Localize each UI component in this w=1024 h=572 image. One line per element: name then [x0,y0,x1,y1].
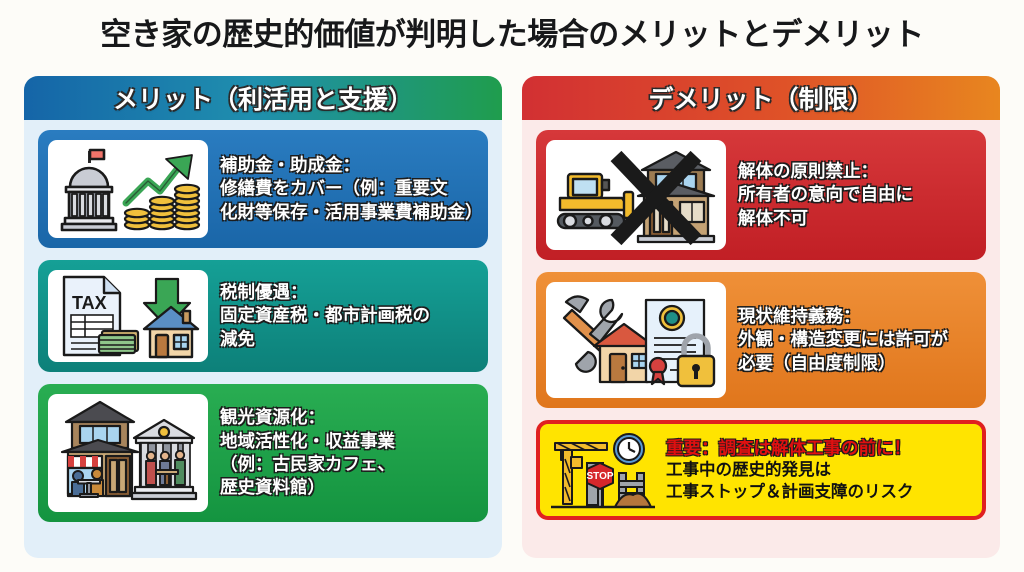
merit-card-subsidy: 補助金・助成金： 修繕費をカバー（例：重要文 化財等保存・活用事業費補助金） [38,130,488,248]
warning-body: 工事中の歴史的発見は 工事ストップ＆計画支障のリスク [666,460,974,503]
demerit-card-preservation-duty: 現状維持義務： 外観・構造変更には許可が 必要（自由度制限） [536,272,986,408]
demerit-card-text: 解体の原則禁止： 所有者の意向で自由に 解体不可 [738,160,974,230]
merit-card-body: 固定資産税・都市計画税の 減免 [220,305,430,348]
demerit-card-heading: 解体の原則禁止： [738,161,878,181]
merit-card-tourism: 観光資源化： 地域活性化・収益事業 （例：古民家カフェ、 歴史資料館） [38,384,488,522]
warning-text: 重要：調査は解体工事の前に！ 工事中の歴史的発見は 工事ストップ＆計画支障のリス… [666,437,974,503]
merit-card-heading: 補助金・助成金： [220,155,360,175]
merit-card-text: 補助金・助成金： 修繕費をカバー（例：重要文 化財等保存・活用事業費補助金） [220,154,476,224]
infographic-page: 空き家の歴史的価値が判明した場合のメリットとデメリット メリット（利活用と支援） [0,0,1024,572]
demerit-panel-header: デメリット（制限） [522,76,1000,120]
merit-card-heading: 税制優遇： [220,282,308,302]
merit-card-body: 地域活性化・収益事業 （例：古民家カフェ、 歴史資料館） [220,431,395,498]
bulldozer-house-prohibited-icon [546,140,726,250]
merit-panel: メリット（利活用と支援） [24,76,502,558]
svg-text:STOP: STOP [586,471,613,482]
demerit-card-heading: 現状維持義務： [738,306,861,326]
merit-panel-header: メリット（利活用と支援） [24,76,502,120]
demerit-card-list: 解体の原則禁止： 所有者の意向で自由に 解体不可 [522,120,1000,532]
merit-card-heading: 観光資源化： [220,407,325,427]
demerit-card-demolition-ban: 解体の原則禁止： 所有者の意向で自由に 解体不可 [536,130,986,260]
demerit-card-text: 現状維持義務： 外観・構造変更には許可が 必要（自由度制限） [738,305,974,375]
page-title: 空き家の歴史的価値が判明した場合のメリットとデメリット [0,8,1024,62]
demerit-panel: デメリット（制限） [522,76,1000,558]
demerit-card-body: 外観・構造変更には許可が 必要（自由度制限） [738,329,948,372]
demerit-card-body: 所有者の意向で自由に 解体不可 [738,184,913,227]
merit-card-text: 観光資源化： 地域活性化・収益事業 （例：古民家カフェ、 歴史資料館） [220,406,476,499]
warning-heading: 重要：調査は解体工事の前に！ [666,437,974,459]
merit-card-body: 修繕費をカバー（例：重要文 化財等保存・活用事業費補助金） [220,178,483,221]
merit-card-list: 補助金・助成金： 修繕費をカバー（例：重要文 化財等保存・活用事業費補助金） T… [24,120,502,534]
tax-document-cash-house-discount-icon: TAX [48,270,208,362]
government-building-coins-growth-icon [48,140,208,238]
warning-card: STOP 重要：調査は解体工事の前に！ 工事中の歴史的発見は 工事ストップ＆計画… [536,420,986,520]
hammer-wrench-house-permit-lock-icon [546,282,726,398]
merit-card-text: 税制優遇： 固定資産税・都市計画税の 減免 [220,281,476,351]
merit-card-tax-break: TAX [38,260,488,372]
svg-text:TAX: TAX [72,293,107,313]
crane-stop-sign-clock-icon: STOP [548,427,658,513]
machiya-cafe-history-museum-icon [48,394,208,512]
